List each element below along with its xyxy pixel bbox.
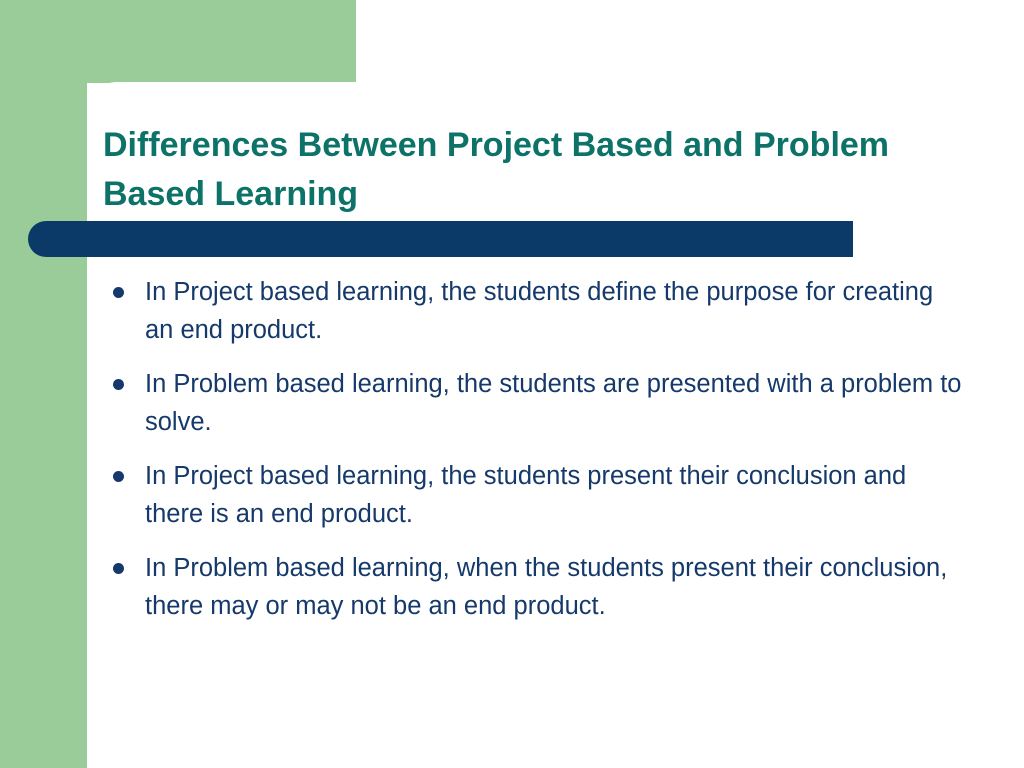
navy-accent-bar-decoration: [28, 221, 853, 257]
green-side-strip-decoration: [0, 0, 87, 768]
list-item: In Project based learning, the students …: [103, 273, 963, 349]
bullet-dot-icon: [113, 563, 124, 574]
list-item-text: In Project based learning, the students …: [145, 273, 963, 349]
slide-canvas: Differences Between Project Based and Pr…: [0, 0, 1024, 768]
bullet-dot-icon: [113, 471, 124, 482]
bullet-dot-icon: [113, 287, 124, 298]
list-item-text: In Problem based learning, when the stud…: [145, 549, 963, 625]
list-item-text: In Problem based learning, the students …: [145, 365, 963, 441]
list-item: In Problem based learning, when the stud…: [103, 549, 963, 625]
slide-title: Differences Between Project Based and Pr…: [103, 121, 903, 219]
bullet-dot-icon: [113, 379, 124, 390]
slide-bullet-list: In Project based learning, the students …: [103, 273, 963, 641]
list-item: In Project based learning, the students …: [103, 457, 963, 533]
green-top-block-decoration: [0, 0, 356, 83]
list-item-text: In Project based learning, the students …: [145, 457, 963, 533]
list-item: In Problem based learning, the students …: [103, 365, 963, 441]
